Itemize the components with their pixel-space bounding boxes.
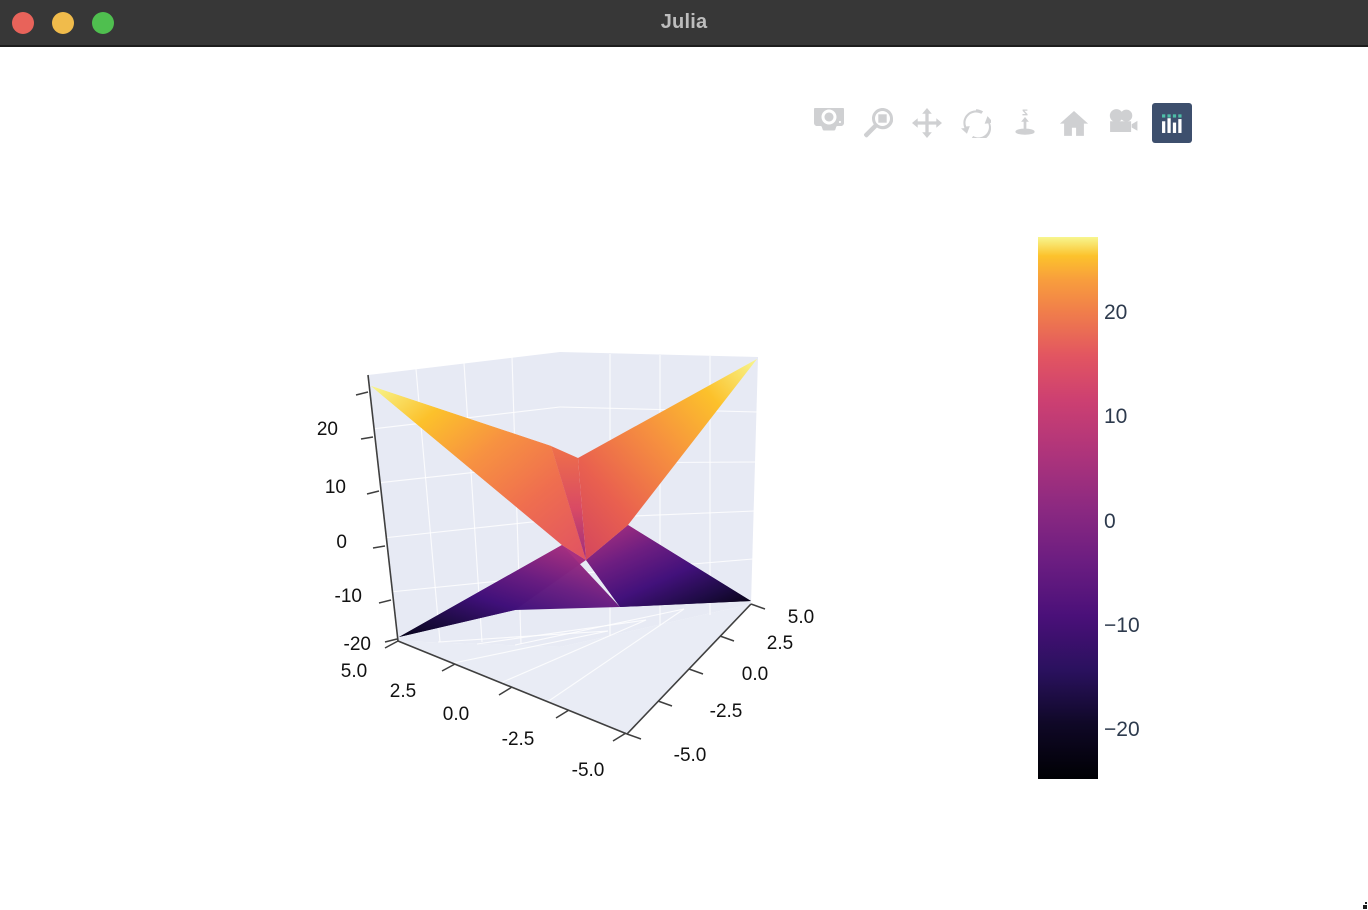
window-title: Julia [0,11,1368,34]
y-tick-label: 5.0 [788,607,814,628]
x-tick-label: 5.0 [341,661,367,682]
camera-icon [814,108,844,138]
plotly-logo-icon-button[interactable] [1152,103,1192,143]
colorbar-tick-label: 20 [1104,301,1127,324]
home-icon [1059,108,1089,138]
turntable-rotation-icon-button[interactable] [1005,103,1045,143]
plotly-logo-icon [1159,110,1185,136]
close-button[interactable] [12,12,34,34]
y-tick-label: 2.5 [767,633,793,654]
video-camera-icon-button[interactable] [1103,103,1143,143]
x-tick-label: 2.5 [390,681,416,702]
z-tick-label: -10 [335,586,362,607]
x-tick-label: -5.0 [572,760,605,781]
y-tick-label: 0.0 [742,664,768,685]
window-controls [12,12,114,34]
colorbar-tick-label: 0 [1104,510,1116,533]
colorbar-tick-label: −10 [1104,614,1140,637]
plot-modebar [809,100,1192,146]
minimize-button[interactable] [52,12,74,34]
plot-canvas[interactable]: 20 10 0 -10 -20 5.0 2.5 0.0 -2.5 -5.0 5.… [0,47,1368,910]
julia-plot-window: Julia [0,0,1368,910]
y-tick-label: -2.5 [710,701,743,722]
colorbar-gradient [1038,237,1098,779]
colorbar: 20 10 0 −10 −20 [1038,237,1140,779]
zoom-box-icon [863,108,893,138]
zoom-box-icon-button[interactable] [858,103,898,143]
turntable-rotation-icon [1010,108,1040,138]
x-tick-label: 0.0 [443,704,469,725]
colorbar-tick-label: 10 [1104,405,1127,428]
orbital-rotation-icon-button[interactable] [956,103,996,143]
z-tick-label: -20 [344,634,371,655]
window-titlebar: Julia [0,0,1368,47]
colorbar-tick-label: −20 [1104,718,1140,741]
maximize-button[interactable] [92,12,114,34]
z-tick-label: 0 [336,532,347,553]
z-tick-label: 10 [325,477,346,498]
video-camera-icon [1108,108,1138,138]
z-tick-label: 20 [317,419,338,440]
x-tick-label: -2.5 [502,729,535,750]
surface-plot-svg: 20 10 0 -10 -20 5.0 2.5 0.0 -2.5 -5.0 5.… [0,47,1368,910]
y-tick-label: -5.0 [674,745,707,766]
pan-arrows-icon-button[interactable] [907,103,947,143]
orbital-rotation-icon [961,108,991,138]
z-axis-ticklabels: 20 10 0 -10 -20 [317,419,371,655]
pan-arrows-icon [912,108,942,138]
resize-grip[interactable] [1358,900,1367,909]
home-icon-button[interactable] [1054,103,1094,143]
camera-icon-button[interactable] [809,103,849,143]
